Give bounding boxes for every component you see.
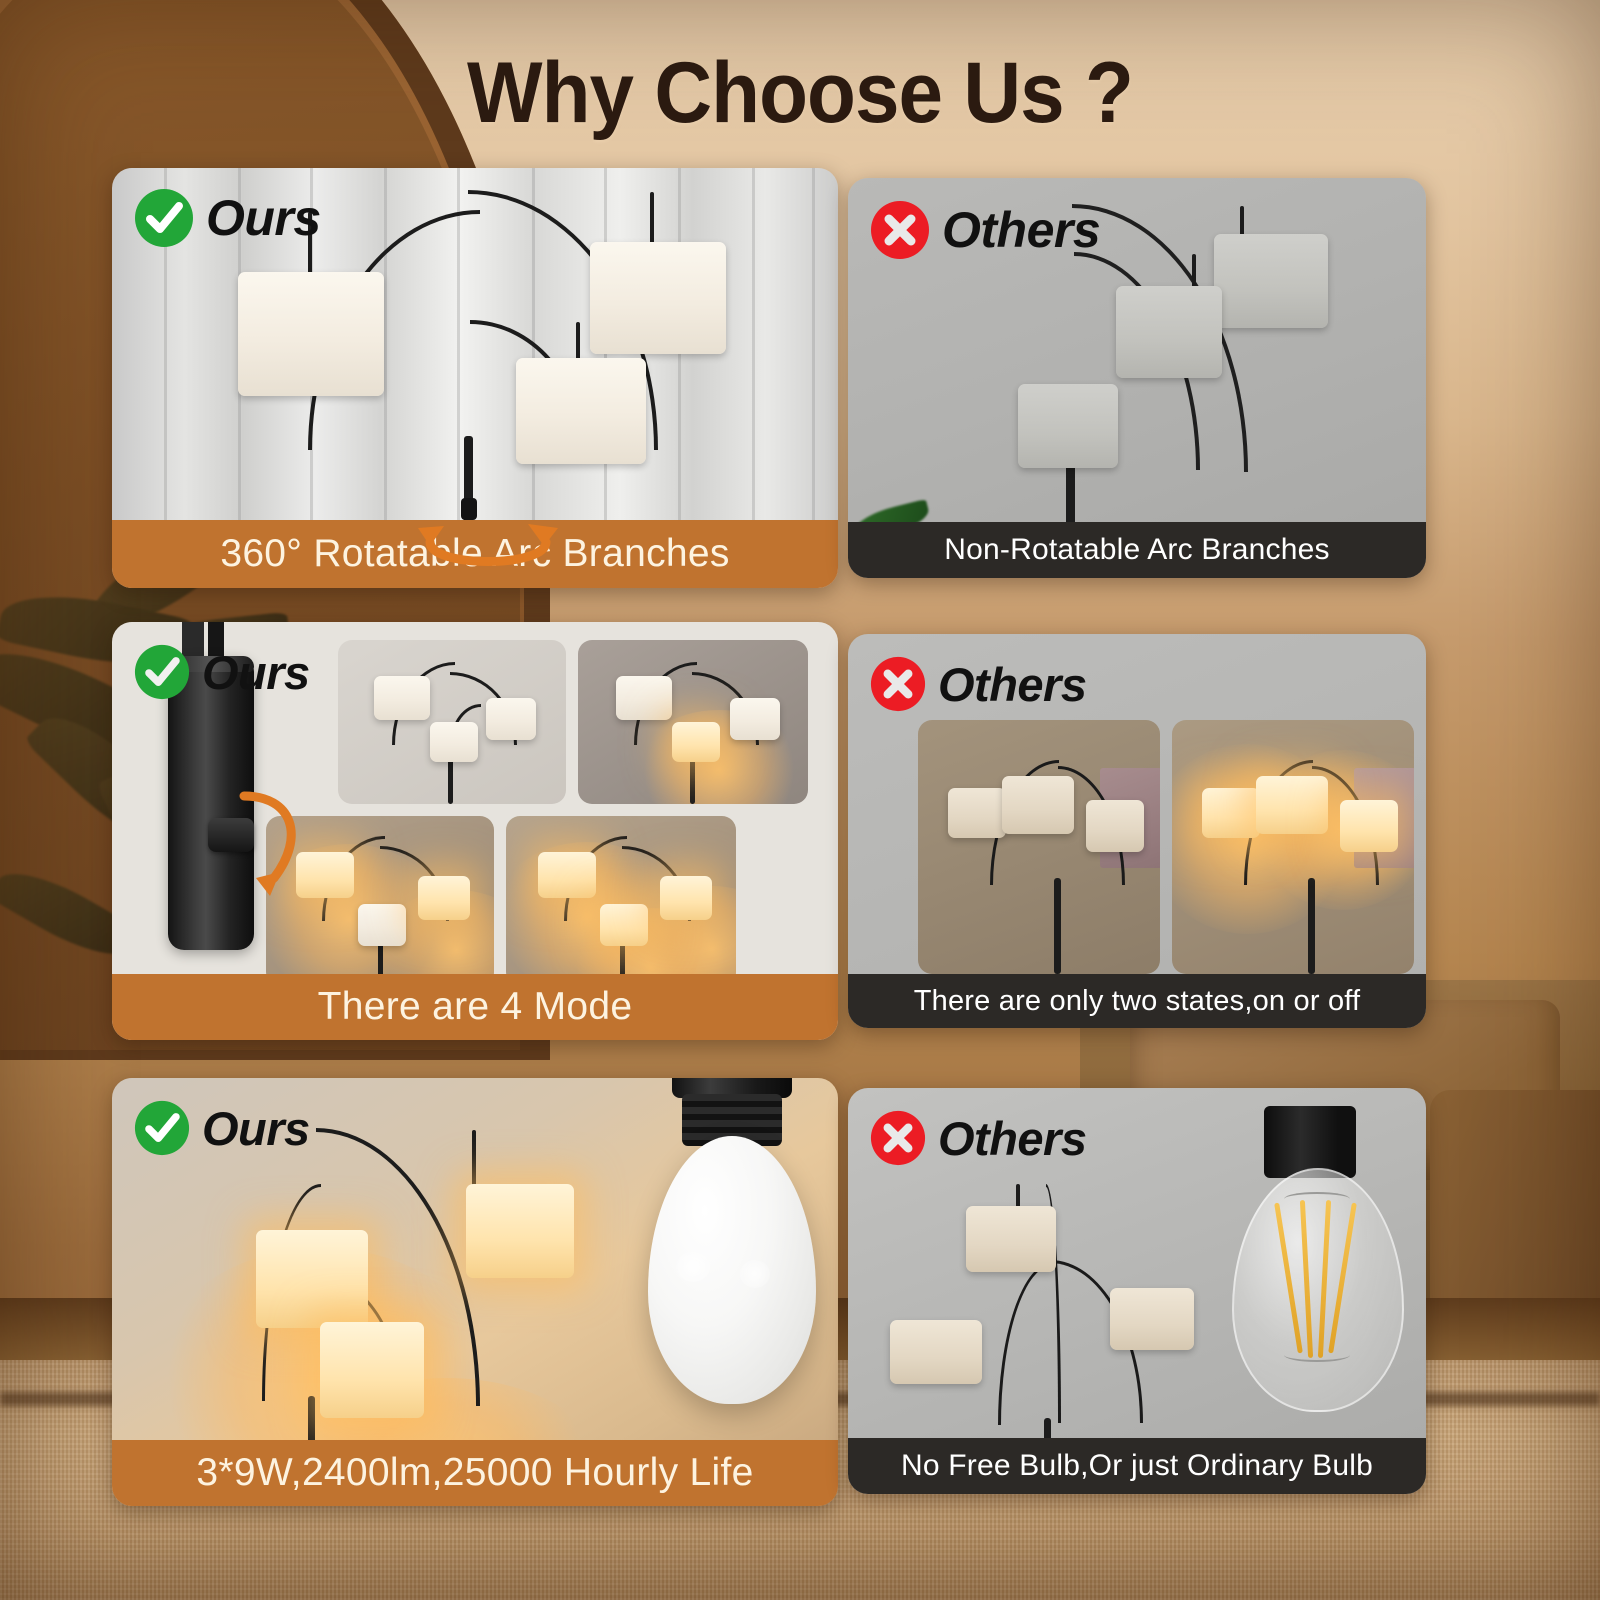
caption-ours-four-modes: There are 4 Mode bbox=[112, 974, 838, 1040]
caption-others-ordinary-bulb: No Free Bulb,Or just Ordinary Bulb bbox=[848, 1438, 1426, 1494]
page-title: Why Choose Us ? bbox=[56, 44, 1544, 143]
badge-others: Others bbox=[870, 200, 1100, 260]
badge-ours-bulb: Ours bbox=[134, 1100, 310, 1156]
green-check-circle-icon bbox=[134, 188, 194, 248]
green-check-circle-icon bbox=[134, 1100, 190, 1156]
badge-ours-label: Ours bbox=[202, 1105, 310, 1152]
infographic-canvas: Why Choose Us ? bbox=[0, 0, 1600, 1600]
mode-cell-1 bbox=[338, 640, 566, 804]
badge-others-states: Others bbox=[870, 656, 1087, 712]
card-others-two-states: Others There are only two states,on or o… bbox=[848, 634, 1426, 1028]
badge-others-bulb: Others bbox=[870, 1110, 1087, 1166]
caption-others-two-states: There are only two states,on or off bbox=[848, 974, 1426, 1028]
caption-others-non-rotatable: Non-Rotatable Arc Branches bbox=[848, 522, 1426, 578]
card-others-ordinary-bulb: Others No Free Bulb,Or just Ordinary Bul… bbox=[848, 1088, 1426, 1494]
card-ours-rotatable: Ours 360° Rotatable Arc Branches bbox=[112, 168, 838, 588]
led-bulb-icon bbox=[628, 1078, 834, 1484]
badge-ours-modes: Ours bbox=[134, 644, 310, 700]
state-photo-on bbox=[1172, 720, 1414, 974]
badge-others-label: Others bbox=[938, 1115, 1087, 1162]
dimmer-knob-rotate-arrow-icon bbox=[230, 780, 322, 900]
card-ours-four-modes: Ours There are 4 Mode bbox=[112, 622, 838, 1040]
mode-cell-4 bbox=[506, 816, 736, 986]
red-x-circle-icon bbox=[870, 200, 930, 260]
green-check-circle-icon bbox=[134, 644, 190, 700]
badge-ours-label: Ours bbox=[206, 193, 321, 243]
red-x-circle-icon bbox=[870, 656, 926, 712]
filament-bulb-icon bbox=[1220, 1106, 1426, 1446]
mode-cell-2 bbox=[578, 640, 808, 804]
card-others-non-rotatable: Others Non-Rotatable Arc Branches bbox=[848, 178, 1426, 578]
red-x-circle-icon bbox=[870, 1110, 926, 1166]
badge-ours: Ours bbox=[134, 188, 321, 248]
state-photo-off bbox=[918, 720, 1160, 974]
rotate-360-arrow-icon bbox=[408, 506, 568, 586]
badge-others-label: Others bbox=[938, 661, 1087, 708]
card-ours-led-bulb: Ours 3*9W,2400lm,25000 Hourly Life bbox=[112, 1078, 838, 1506]
badge-others-label: Others bbox=[942, 205, 1100, 255]
badge-ours-label: Ours bbox=[202, 649, 310, 696]
caption-ours-led-bulb: 3*9W,2400lm,25000 Hourly Life bbox=[112, 1440, 838, 1506]
